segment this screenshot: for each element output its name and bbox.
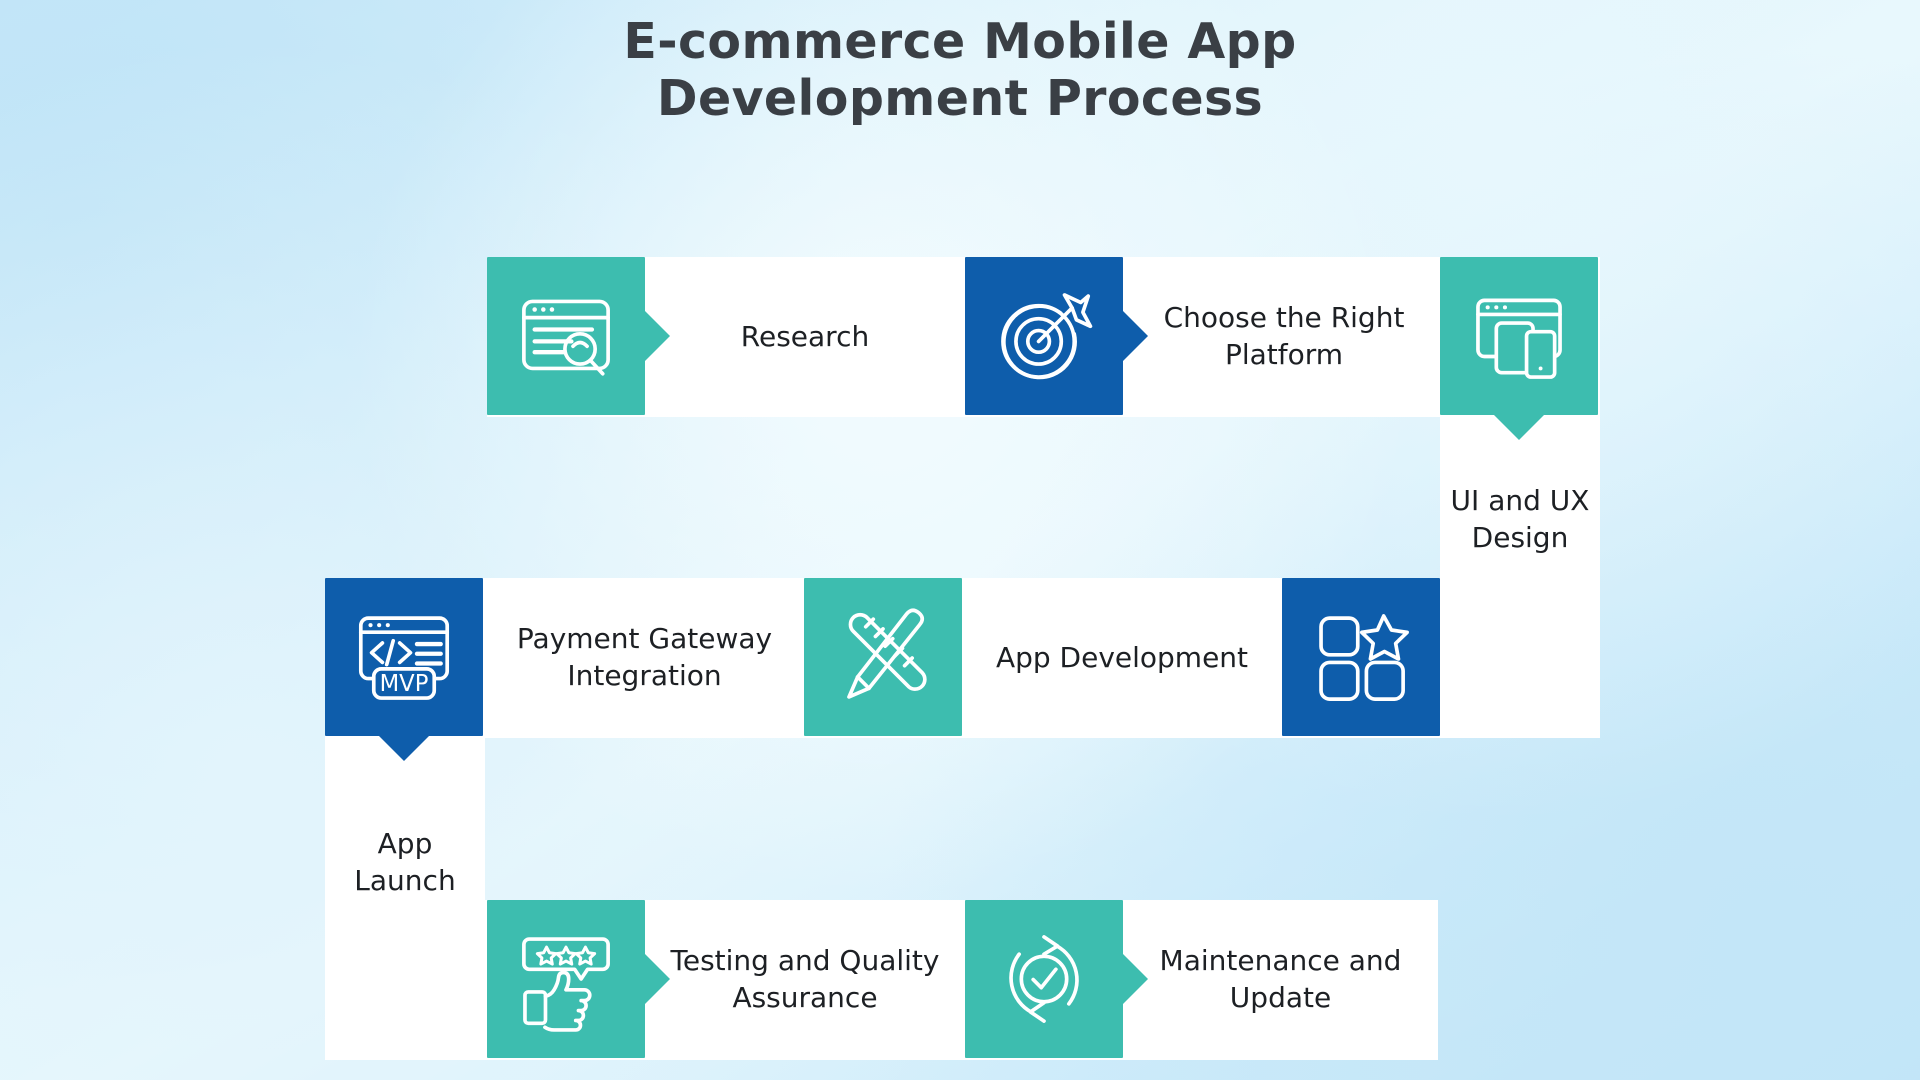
- step-testing-qa-label: Testing and Quality Assurance: [645, 900, 965, 1060]
- target-dart-icon: [990, 282, 1098, 390]
- step-ui-ux-label: UI and UX Design: [1440, 440, 1600, 600]
- refresh-check-icon: [990, 925, 1098, 1033]
- step-app-launch-tile[interactable]: MVP: [325, 578, 483, 736]
- step-app-development-label: App Development: [962, 578, 1282, 738]
- mvp-code-icon: MVP: [350, 603, 458, 711]
- svg-text:MVP: MVP: [380, 671, 429, 697]
- step-app-development-tile[interactable]: [1282, 578, 1440, 736]
- step-research-tile[interactable]: [487, 257, 645, 415]
- responsive-devices-icon: [1465, 282, 1573, 390]
- step-testing-qa-tile[interactable]: [487, 900, 645, 1058]
- step-payment-gateway-label: Payment Gateway Integration: [485, 578, 804, 738]
- step-app-launch-label: App Launch: [325, 783, 485, 943]
- ruler-pencil-icon: [829, 603, 937, 711]
- step-maintenance-tile[interactable]: [965, 900, 1123, 1058]
- step-choose-platform-tile[interactable]: [965, 257, 1123, 415]
- step-maintenance-label: Maintenance and Update: [1123, 900, 1438, 1060]
- thumbs-up-stars-icon: [512, 925, 620, 1033]
- step-payment-gateway-tile[interactable]: [804, 578, 962, 736]
- step-research-label: Research: [645, 257, 965, 417]
- step-ui-ux-tile[interactable]: [1440, 257, 1598, 415]
- app-shapes-star-icon: [1307, 603, 1415, 711]
- process-flow-diagram: Research Choose the Right Platform: [0, 0, 1920, 1080]
- step-choose-platform-label: Choose the Right Platform: [1128, 257, 1440, 417]
- browser-search-icon: [512, 282, 620, 390]
- flow-arrow-down-icon: [379, 736, 429, 761]
- flow-arrow-down-icon: [1494, 415, 1544, 440]
